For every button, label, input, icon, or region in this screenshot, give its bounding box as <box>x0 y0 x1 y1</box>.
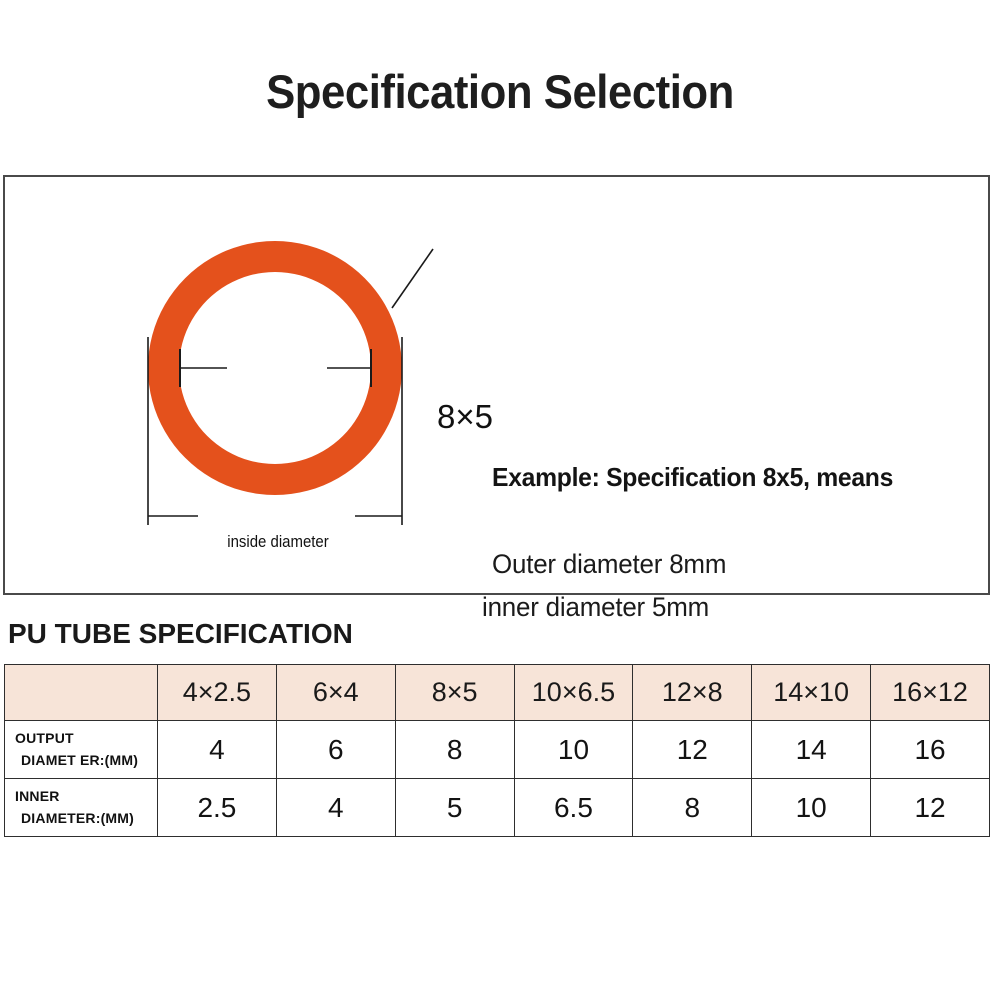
table-row: OUTPUT DIAMET ER:(MM) 4 6 8 10 12 14 16 <box>5 721 990 779</box>
table-cell: 16 <box>871 721 990 779</box>
table-cell: 4 <box>276 779 395 837</box>
outer-diameter-text: Outer diameter 8mm <box>492 549 962 580</box>
table-cell: 12 <box>633 721 752 779</box>
table-row: INNER DIAMETER:(MM) 2.5 4 5 6.5 8 10 12 <box>5 779 990 837</box>
example-text-block: Example: Specification 8x5, means Outer … <box>492 462 982 623</box>
row-label-line1: OUTPUT <box>15 730 74 746</box>
row-label-line2: DIAMETER:(MM) <box>15 808 157 830</box>
table-column-header: 10×6.5 <box>514 665 633 721</box>
row-label-output-diameter: OUTPUT DIAMET ER:(MM) <box>5 721 158 779</box>
page-title: Specification Selection <box>35 68 965 115</box>
table-cell: 4 <box>158 721 277 779</box>
inside-diameter-label: inside diameter <box>38 532 518 552</box>
pu-tube-specification-table: 4×2.5 6×4 8×5 10×6.5 12×8 14×10 16×12 OU… <box>4 664 990 837</box>
table-cell: 10 <box>514 721 633 779</box>
spec-callout-label: 8×5 <box>437 398 493 436</box>
inner-diameter-text: inner diameter 5mm <box>482 592 962 623</box>
table-title: PU TUBE SPECIFICATION <box>8 620 353 648</box>
row-label-line1: INNER <box>15 788 60 804</box>
table-column-header: 4×2.5 <box>158 665 277 721</box>
callout-leader-line <box>392 249 433 308</box>
table-corner-cell <box>5 665 158 721</box>
example-heading: Example: Specification 8x5, means <box>492 462 958 493</box>
table-column-header: 14×10 <box>752 665 871 721</box>
table-cell: 6 <box>276 721 395 779</box>
row-label-line2: DIAMET ER:(MM) <box>15 750 157 772</box>
table-column-header: 16×12 <box>871 665 990 721</box>
table-column-header: 12×8 <box>633 665 752 721</box>
diagram-panel: inside diameter external diameter 8×5 Ex… <box>3 175 990 595</box>
table-header-row: 4×2.5 6×4 8×5 10×6.5 12×8 14×10 16×12 <box>5 665 990 721</box>
table-cell: 6.5 <box>514 779 633 837</box>
table-column-header: 6×4 <box>276 665 395 721</box>
table-cell: 2.5 <box>158 779 277 837</box>
table-cell: 8 <box>395 721 514 779</box>
table-body: OUTPUT DIAMET ER:(MM) 4 6 8 10 12 14 16 … <box>5 721 990 837</box>
table-header: 4×2.5 6×4 8×5 10×6.5 12×8 14×10 16×12 <box>5 665 990 721</box>
table-cell: 8 <box>633 779 752 837</box>
row-label-inner-diameter: INNER DIAMETER:(MM) <box>5 779 158 837</box>
table-cell: 10 <box>752 779 871 837</box>
table-cell: 5 <box>395 779 514 837</box>
table-cell: 12 <box>871 779 990 837</box>
table-cell: 14 <box>752 721 871 779</box>
table-column-header: 8×5 <box>395 665 514 721</box>
